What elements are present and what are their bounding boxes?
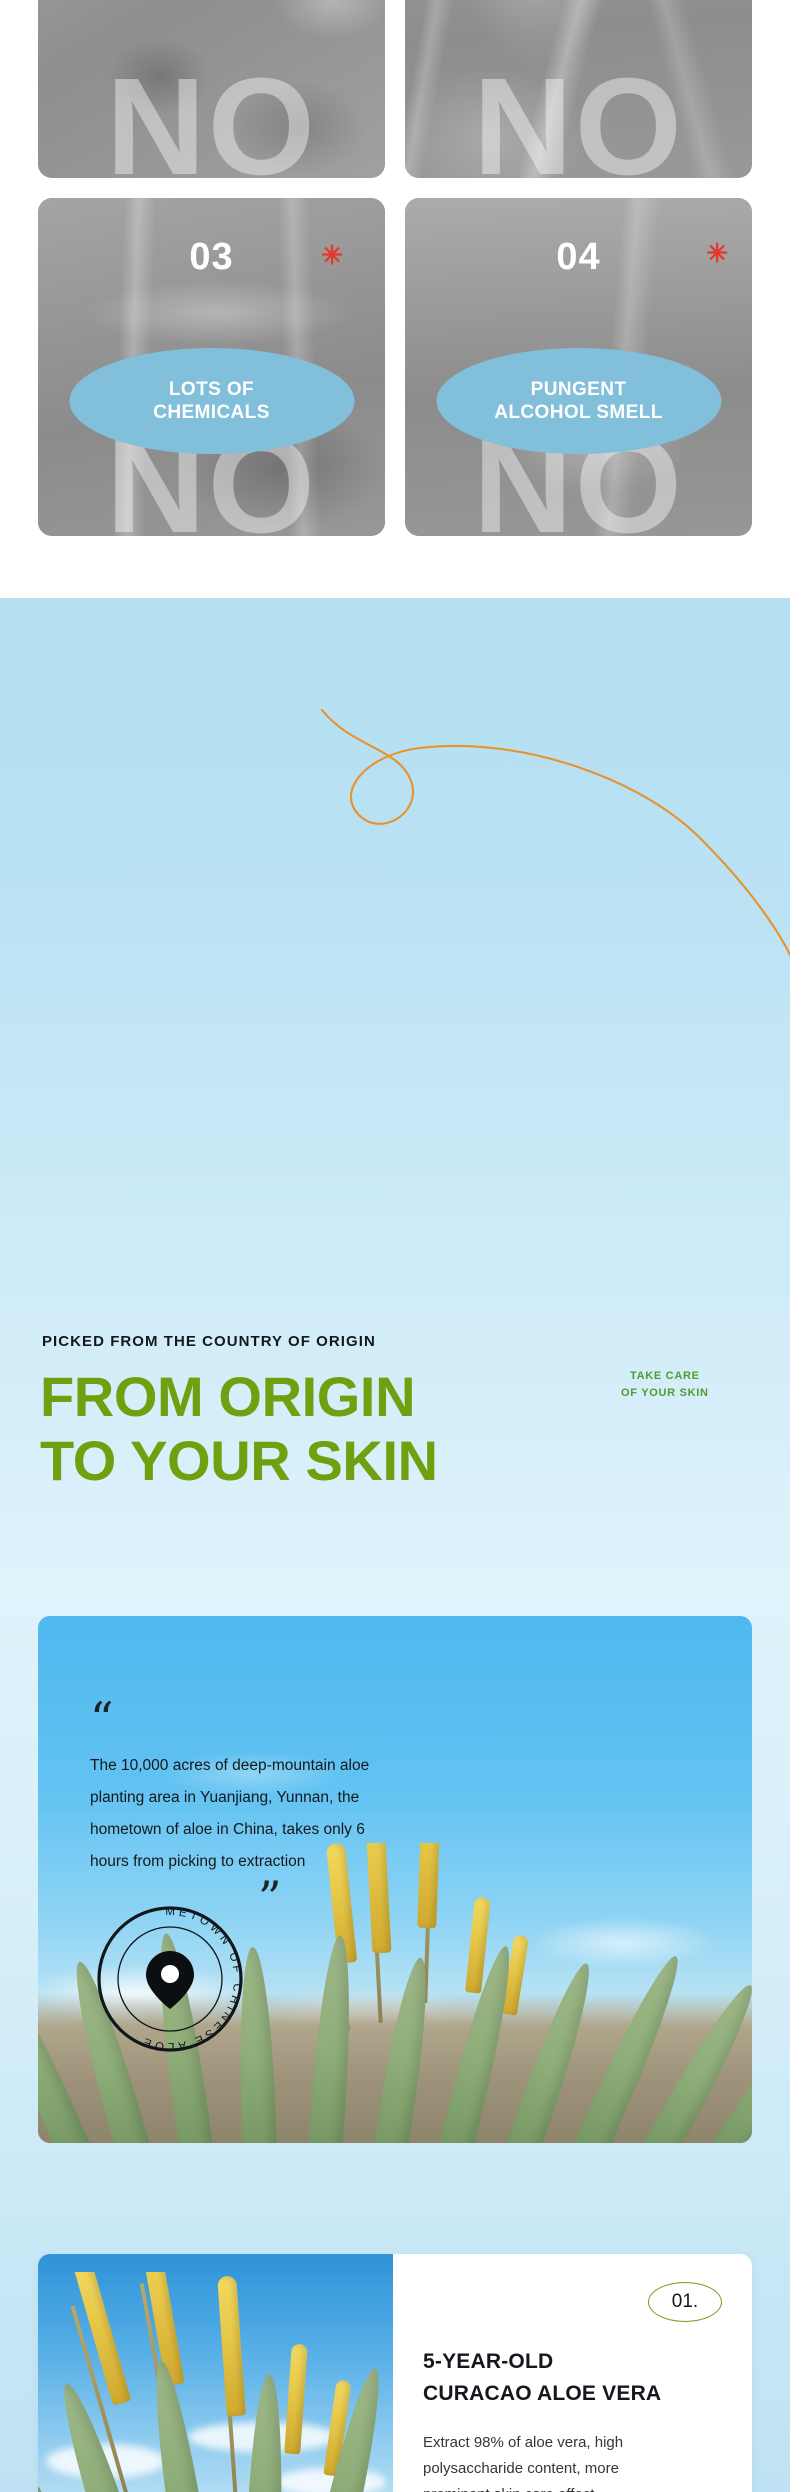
powder-texture-photo [38,0,385,178]
card-image [38,2254,393,2492]
card-content: 01. 5-YEAR-OLD CURACAO ALOE VERA Extract… [393,2254,752,2492]
page-title: FROM ORIGIN TO YOUR SKIN [40,1370,438,1489]
asterisk-icon: ✳ [321,242,343,268]
card-description: Extract 98% of aloe vera, high polysacch… [423,2430,673,2492]
take-care-line-2: OF YOUR SKIN [621,1385,709,1402]
asterisk-icon: ✳ [706,240,728,266]
no-card-03[interactable]: NO 03 LOTS OF CHEMICALS ✳ [38,198,385,536]
headline-line-2: TO YOUR SKIN [40,1434,438,1489]
glass-beakers-photo [405,0,752,178]
hero-quote-text: The 10,000 acres of deep-mountain aloe p… [90,1750,390,1879]
take-care-callout: TAKE CARE OF YOUR SKIN [621,1368,709,1402]
location-pin-icon [146,1951,194,2009]
no-card-02[interactable]: NO [405,0,752,178]
headline-line-1: FROM ORIGIN [40,1365,415,1428]
quote-open-icon: “ [90,1706,390,1734]
from-origin-section: PICKED FROM THE COUNTRY OF ORIGIN FROM O… [0,598,790,2492]
no-claim-pill[interactable]: LOTS OF CHEMICALS [69,348,354,454]
card-aloe-plants [38,2272,393,2492]
card-title-line-1: 5-YEAR-OLD [423,2346,718,2378]
no-cards-grid: NO NO NO 03 LOTS OF CHEMICALS ✳ NO 04 PU… [38,0,752,536]
no-claim-label: LOTS OF CHEMICALS [153,378,270,424]
no-claim-label: PUNGENT ALCOHOL SMELL [494,378,662,424]
section-eyebrow: PICKED FROM THE COUNTRY OF ORIGIN [42,1333,376,1350]
card-number: 04 [405,236,752,279]
no-card-04[interactable]: NO 04 PUNGENT ALCOHOL SMELL ✳ [405,198,752,536]
card-title: 5-YEAR-OLD CURACAO ALOE VERA [423,2346,718,2410]
hero-quote: “ The 10,000 acres of deep-mountain aloe… [90,1706,390,1912]
hometown-seal-badge: HOMETOWN OF CHINESE ALOE [96,1905,244,2053]
no-claims-section: NO NO NO 03 LOTS OF CHEMICALS ✳ NO 04 PU… [0,0,790,598]
card-title-line-2: CURACAO ALOE VERA [423,2378,718,2410]
no-card-01[interactable]: NO [38,0,385,178]
quote-close-icon: ” [258,1885,390,1913]
no-claim-pill[interactable]: PUNGENT ALCOHOL SMELL [436,348,721,454]
orange-swoosh-decoration [0,598,790,958]
card-number-badge: 01. [648,2282,722,2322]
feature-card-01[interactable]: 01. 5-YEAR-OLD CURACAO ALOE VERA Extract… [38,2254,752,2492]
take-care-line-1: TAKE CARE [621,1368,709,1385]
hero-aloe-photo: “ The 10,000 acres of deep-mountain aloe… [38,1616,752,2143]
